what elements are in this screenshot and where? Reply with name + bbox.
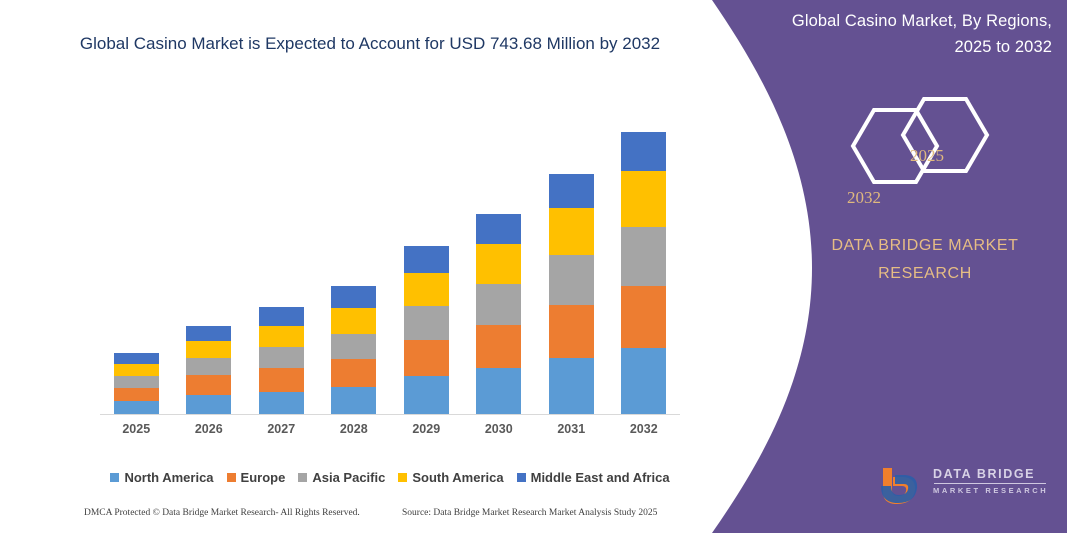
- hexagon-2025-label: 2025: [910, 146, 944, 166]
- chart-plot-area: [100, 120, 680, 415]
- x-axis-line: [100, 414, 680, 415]
- bar-segment: [404, 306, 449, 340]
- bar-segment: [331, 334, 376, 359]
- bar-segment: [259, 392, 304, 414]
- chart-title: Global Casino Market is Expected to Acco…: [60, 30, 680, 58]
- brand-line-2: RESEARCH: [800, 260, 1050, 288]
- bar-segment: [331, 286, 376, 308]
- legend-item[interactable]: Europe: [227, 470, 286, 485]
- bar-segment: [621, 171, 666, 227]
- legend-item[interactable]: Middle East and Africa: [517, 470, 670, 485]
- bar-segment: [186, 375, 231, 394]
- bar-segment: [259, 347, 304, 368]
- panel-title: Global Casino Market, By Regions, 2025 t…: [752, 8, 1052, 60]
- bar-2029[interactable]: [404, 246, 449, 414]
- bar-segment: [186, 358, 231, 375]
- legend-swatch-icon: [398, 473, 407, 482]
- footer: DMCA Protected © Data Bridge Market Rese…: [0, 508, 700, 526]
- bar-segment: [476, 284, 521, 325]
- bar-segment: [621, 227, 666, 286]
- logo-mark-icon: [873, 462, 929, 508]
- legend-item[interactable]: Asia Pacific: [298, 470, 385, 485]
- bar-segment: [476, 368, 521, 414]
- bar-2027[interactable]: [259, 307, 304, 414]
- bar-segment: [259, 307, 304, 325]
- bar-segment: [549, 255, 594, 305]
- bar-segment: [186, 326, 231, 341]
- brand-line-1: DATA BRIDGE MARKET: [800, 232, 1050, 260]
- x-axis-label-2028: 2028: [324, 422, 384, 436]
- bar-2032[interactable]: [621, 132, 666, 414]
- hexagon-shapes: [805, 92, 1005, 207]
- footer-copyright: DMCA Protected © Data Bridge Market Rese…: [84, 508, 360, 518]
- bar-segment: [186, 341, 231, 358]
- hexagon-group: 2025 2032: [805, 92, 1005, 207]
- bar-segment: [404, 246, 449, 272]
- bar-segment: [476, 244, 521, 284]
- bar-segment: [114, 401, 159, 414]
- legend-label: Asia Pacific: [312, 470, 385, 485]
- x-axis-label-2032: 2032: [614, 422, 674, 436]
- bar-segment: [186, 395, 231, 414]
- x-axis-label-2025: 2025: [106, 422, 166, 436]
- bar-segment: [476, 214, 521, 245]
- chart-legend: North AmericaEuropeAsia PacificSouth Ame…: [100, 470, 680, 485]
- bar-segment: [114, 376, 159, 387]
- x-axis-label-2027: 2027: [251, 422, 311, 436]
- bar-segment: [549, 174, 594, 208]
- legend-label: Europe: [241, 470, 286, 485]
- legend-item[interactable]: North America: [110, 470, 213, 485]
- bar-2026[interactable]: [186, 326, 231, 414]
- bar-segment: [621, 286, 666, 348]
- bar-segment: [476, 325, 521, 369]
- x-axis-label-2031: 2031: [541, 422, 601, 436]
- bar-segment: [259, 368, 304, 391]
- bar-2025[interactable]: [114, 353, 159, 414]
- legend-item[interactable]: South America: [398, 470, 503, 485]
- logo-line-1: DATA BRIDGE: [933, 467, 1048, 481]
- x-axis-label-2029: 2029: [396, 422, 456, 436]
- legend-label: North America: [124, 470, 213, 485]
- bar-segment: [404, 273, 449, 307]
- bar-segment: [259, 326, 304, 347]
- legend-swatch-icon: [110, 473, 119, 482]
- bar-segment: [331, 359, 376, 386]
- logo-divider: [934, 483, 1046, 484]
- bar-2030[interactable]: [476, 214, 521, 414]
- legend-label: Middle East and Africa: [531, 470, 670, 485]
- bar-segment: [621, 348, 666, 414]
- bar-2028[interactable]: [331, 286, 376, 414]
- x-axis-labels: 20252026202720282029203020312032: [100, 422, 680, 442]
- bar-segment: [114, 388, 159, 401]
- logo-wordmark: DATA BRIDGE MARKET RESEARCH: [933, 467, 1048, 495]
- logo-line-2: MARKET RESEARCH: [933, 486, 1048, 495]
- legend-swatch-icon: [227, 473, 236, 482]
- bar-2031[interactable]: [549, 174, 594, 414]
- bar-segment: [331, 308, 376, 333]
- hexagon-2032-label: 2032: [847, 188, 881, 208]
- bar-segment: [114, 364, 159, 376]
- bar-segment: [621, 132, 666, 171]
- legend-swatch-icon: [298, 473, 307, 482]
- bar-segment: [404, 340, 449, 377]
- footer-source: Source: Data Bridge Market Research Mark…: [402, 508, 657, 518]
- legend-label: South America: [412, 470, 503, 485]
- company-logo: DATA BRIDGE MARKET RESEARCH: [873, 462, 1063, 512]
- infographic-root: Global Casino Market, By Regions, 2025 t…: [0, 0, 1067, 533]
- x-axis-label-2026: 2026: [179, 422, 239, 436]
- bar-segment: [331, 387, 376, 414]
- legend-swatch-icon: [517, 473, 526, 482]
- bar-segment: [549, 358, 594, 414]
- x-axis-label-2030: 2030: [469, 422, 529, 436]
- bar-segment: [114, 353, 159, 364]
- bar-segment: [404, 376, 449, 414]
- bar-segment: [549, 208, 594, 256]
- brand-block: DATA BRIDGE MARKET RESEARCH: [800, 232, 1050, 288]
- bar-segment: [549, 305, 594, 358]
